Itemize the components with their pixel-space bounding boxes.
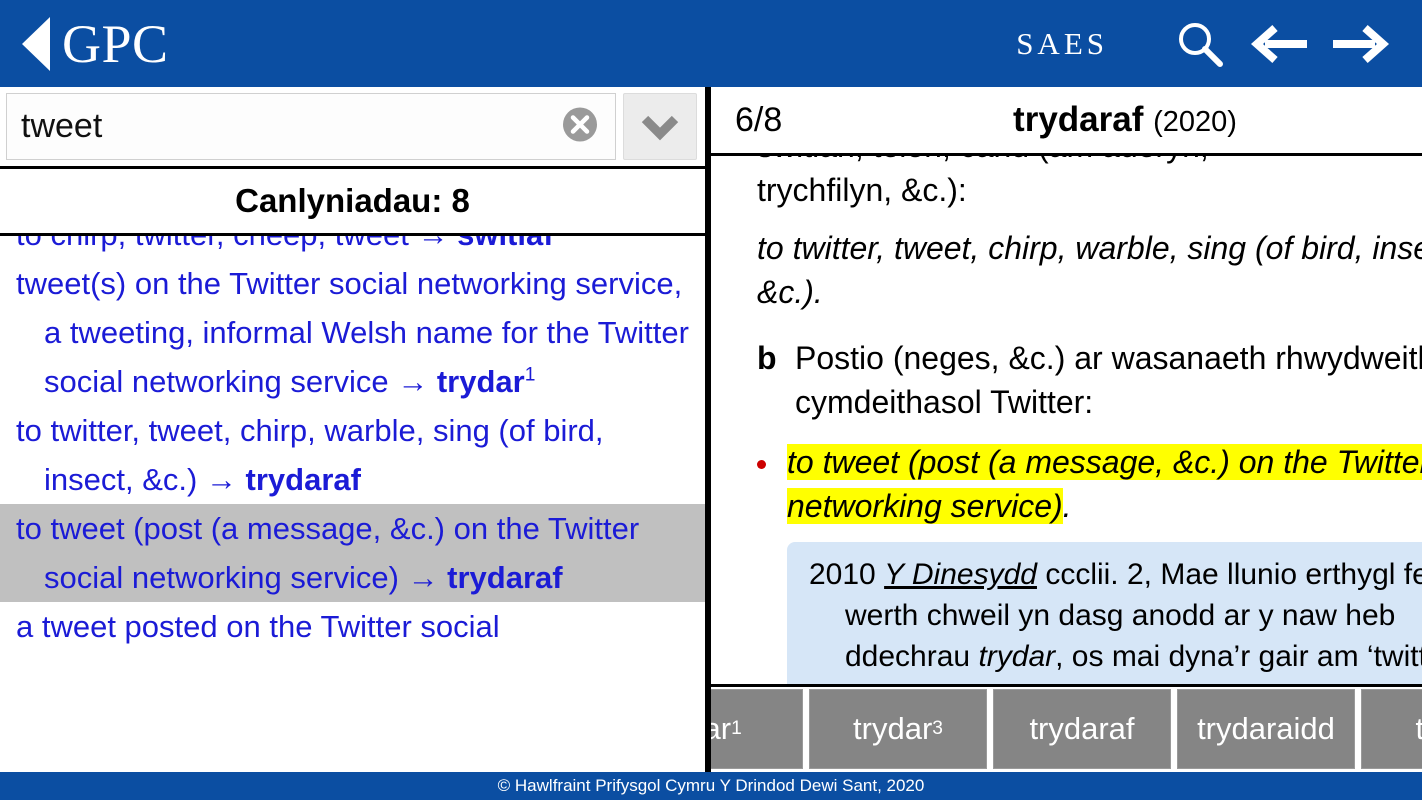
tab-trydar-3[interactable]: trydar3: [809, 689, 987, 769]
list-item[interactable]: to twitter, tweet, chirp, warble, sing (…: [0, 406, 705, 504]
entry-scroll: switian, telori, canu (am aderyn, trychf…: [711, 156, 1422, 684]
chevron-down-icon[interactable]: [623, 93, 697, 160]
arrow-left-icon[interactable]: [1240, 9, 1320, 79]
tab-trydaraf[interactable]: trydaraf: [993, 689, 1171, 769]
results-count-label: Canlyniadau: 8: [0, 169, 705, 236]
citation-box[interactable]: 2010 Y Dinesydd ccclii. 2, Mae llunio er…: [787, 542, 1422, 684]
sense-b: b Postio (neges, &c.) ar wasanaeth rhwyd…: [757, 336, 1422, 424]
back-triangle-icon[interactable]: [22, 17, 50, 71]
entry-pane: 6/8 trydaraf (2020) switian, telori, can…: [711, 87, 1422, 772]
app-bar: GPC SAES: [0, 0, 1422, 87]
result-superscript: 1: [525, 365, 536, 386]
highlighted-gloss-part1: to tweet (post (a message, &c.) on the: [787, 444, 1337, 480]
search-field[interactable]: [6, 93, 616, 160]
app-title: GPC: [62, 17, 169, 71]
result-text: to chirp, twitter, cheep, tweet →: [16, 236, 457, 252]
list-item[interactable]: tweet(s) on the Twitter social networkin…: [0, 259, 705, 406]
footer-copyright: © Hawlfraint Prifysgol Cymru Y Drindod D…: [0, 772, 1422, 800]
entry-line-welsh-cont: trychfilyn, &c.):: [757, 168, 1422, 212]
gloss-period: .: [1063, 488, 1072, 524]
tab-label: trydar: [853, 711, 932, 747]
tab-trydaraidd[interactable]: trydaraidd: [1177, 689, 1355, 769]
tab-trydar-1[interactable]: dar1: [711, 689, 803, 769]
result-headword[interactable]: trydaraf: [246, 462, 361, 497]
list-item[interactable]: a tweet posted on the Twitter social: [0, 602, 705, 651]
red-bullet-icon: [757, 440, 787, 528]
tab-label: tryda: [1416, 711, 1422, 747]
list-item[interactable]: to chirp, twitter, cheep, tweet → switia…: [0, 236, 705, 259]
result-headword[interactable]: switiaf: [457, 236, 553, 252]
sense-welsh-definition: Postio (neges, &c.) ar wasanaeth rhwydwe…: [795, 336, 1422, 424]
results-list[interactable]: to chirp, twitter, cheep, tweet → switia…: [0, 236, 705, 772]
app-root: GPC SAES: [0, 0, 1422, 800]
sense-b-gloss-row: to tweet (post (a message, &c.) on the T…: [757, 440, 1422, 528]
entry-year: (2020): [1153, 106, 1237, 138]
result-headword[interactable]: trydaraf: [447, 560, 562, 595]
result-text: a tweet posted on the Twitter social: [16, 609, 500, 644]
citation-keyword: trydar: [978, 640, 1055, 673]
citation-year: 2010: [809, 558, 876, 591]
search-input[interactable]: [7, 94, 615, 159]
arrow-right-icon[interactable]: [1320, 9, 1400, 79]
tab-label: trydaraidd: [1197, 711, 1335, 747]
list-item-selected[interactable]: to tweet (post (a message, &c.) on the T…: [0, 504, 705, 602]
entry-body[interactable]: switian, telori, canu (am aderyn, trychf…: [711, 156, 1422, 684]
result-headword[interactable]: trydar: [437, 364, 525, 399]
entry-headword: trydaraf: [1013, 100, 1143, 139]
entry-line-cut: switian, telori, canu (am aderyn,: [757, 156, 1422, 168]
tab-label: trydaraf: [1029, 711, 1134, 747]
search-row: [0, 87, 705, 169]
result-superscript: 1: [554, 236, 565, 239]
tab-trydar-next[interactable]: tryda: [1361, 689, 1422, 769]
entry-title: trydaraf (2020): [711, 100, 1422, 140]
citation-line4: dyna’r gair am ‘twitter’.: [1169, 640, 1422, 673]
body-split: Canlyniadau: 8 to chirp, twitter, cheep,…: [0, 87, 1422, 772]
citation-text: 2010 Y Dinesydd ccclii. 2, Mae llunio er…: [809, 554, 1422, 677]
clear-circle-icon[interactable]: [559, 103, 601, 150]
search-results-pane: Canlyniadau: 8 to chirp, twitter, cheep,…: [0, 87, 711, 772]
entry-gloss-english: to twitter, tweet, chirp, warble, sing (…: [757, 226, 1422, 314]
app-bar-actions: SAES: [1016, 9, 1422, 79]
citation-ref: ccclii. 2, Mae llunio: [1045, 558, 1297, 591]
entry-header: 6/8 trydaraf (2020): [711, 87, 1422, 156]
sense-letter: b: [757, 336, 795, 424]
results-list-inner: to chirp, twitter, cheep, tweet → switia…: [0, 236, 705, 651]
sense-b-english-gloss: to tweet (post (a message, &c.) on the T…: [787, 440, 1422, 528]
tab-label: dar: [711, 711, 731, 747]
citation-source: Y Dinesydd: [884, 558, 1037, 591]
entry-gloss-text: to twitter, tweet, chirp, warble, sing (…: [757, 230, 1422, 310]
language-toggle-saes[interactable]: SAES: [1016, 26, 1108, 62]
entry-index: 6/8: [721, 101, 782, 140]
result-text: tweet(s) on the Twitter social networkin…: [16, 266, 689, 399]
citation-line3-post: , os mai: [1055, 640, 1160, 673]
search-icon[interactable]: [1160, 9, 1240, 79]
related-entries-tabstrip[interactable]: dar1 trydar3 trydaraf trydaraidd tryda: [711, 684, 1422, 772]
